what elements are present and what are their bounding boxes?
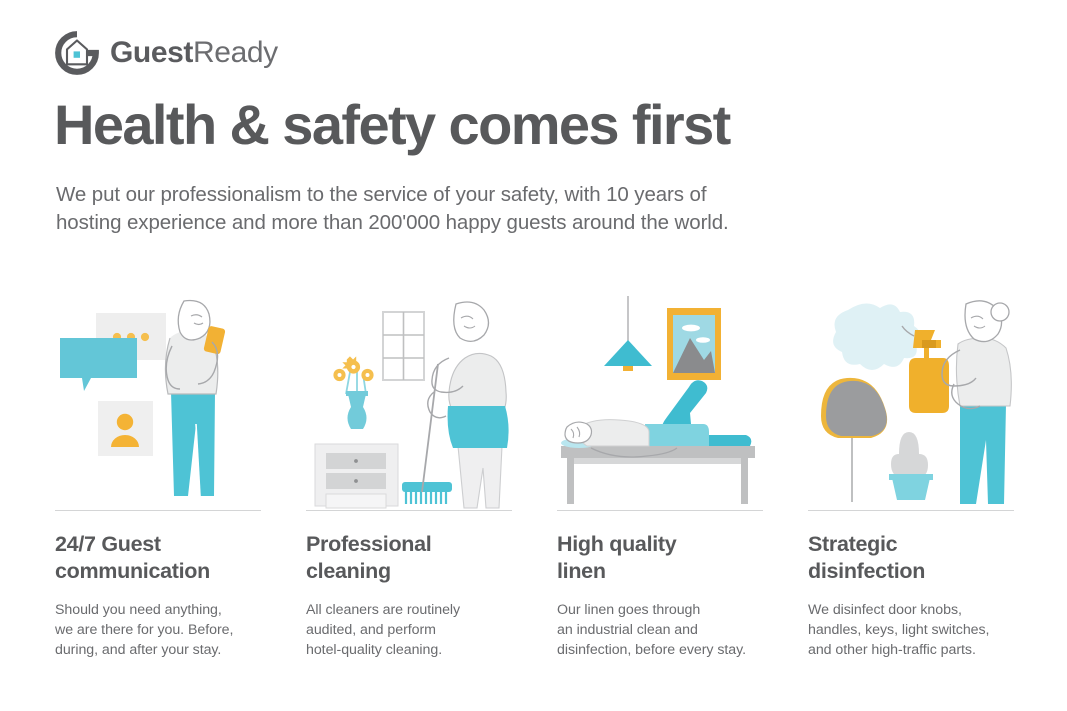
feature-title: 24/7 Guest communication [55,531,261,585]
feature-column-guest-communication: 24/7 Guest communication Should you need… [55,296,261,661]
page-title: Health & safety comes first [54,96,730,155]
feature-column-professional-cleaning: Professional cleaning All cleaners are r… [306,296,512,661]
potted-cactus-icon [889,432,933,500]
health-safety-infographic: GuestReady Health & safety comes first W… [0,0,1067,711]
brand-name-light: Ready [193,36,278,69]
page-subtitle: We put our professionalism to the servic… [56,181,756,238]
feature-column-strategic-disinfection: Strategic disinfection We disinfect door… [808,296,1014,661]
person-lying-on-bed-icon [561,380,751,457]
chat-bubble-teal-icon [60,338,137,391]
window-frame-icon [383,312,424,380]
brand-name-bold: Guest [110,36,193,69]
dresser-icon [315,444,398,508]
column-divider [306,510,512,511]
professional-cleaning-illustration [306,296,512,510]
cleaner-with-mop-icon [428,302,509,508]
feature-columns: 24/7 Guest communication Should you need… [55,296,1013,661]
feature-body: We disinfect door knobs, handles, keys, … [808,600,1014,661]
pendant-lamp-icon [604,296,652,371]
spray-mist-cloud-icon [833,303,920,370]
feature-column-high-quality-linen: High quality linen Our linen goes throug… [557,296,763,661]
scrub-brush-icon [402,482,452,504]
feature-body: All cleaners are routinely audited, and … [306,600,512,661]
column-divider [55,510,261,511]
person-spraying-icon [942,301,1011,504]
brand-wordmark: GuestReady [110,38,278,68]
feature-body: Should you need anything, we are there f… [55,600,261,661]
mop-handle-icon [422,364,438,492]
strategic-disinfection-illustration [808,296,1014,510]
person-on-phone-icon [165,301,225,496]
avatar-card-icon [98,401,153,456]
brand-logo[interactable]: GuestReady [55,31,278,75]
feature-title: High quality linen [557,531,763,585]
high-quality-linen-illustration [557,296,763,510]
column-divider [557,510,763,511]
feature-body: Our linen goes through an industrial cle… [557,600,763,661]
column-divider [808,510,1014,511]
guest-communication-illustration [55,296,261,510]
egg-chair-icon [821,378,887,502]
guestready-house-circle-logo-icon [55,31,99,75]
feature-title: Strategic disinfection [808,531,1014,585]
framed-mountain-picture-icon [667,308,721,380]
flower-vase-icon [333,356,373,429]
feature-title: Professional cleaning [306,531,512,585]
